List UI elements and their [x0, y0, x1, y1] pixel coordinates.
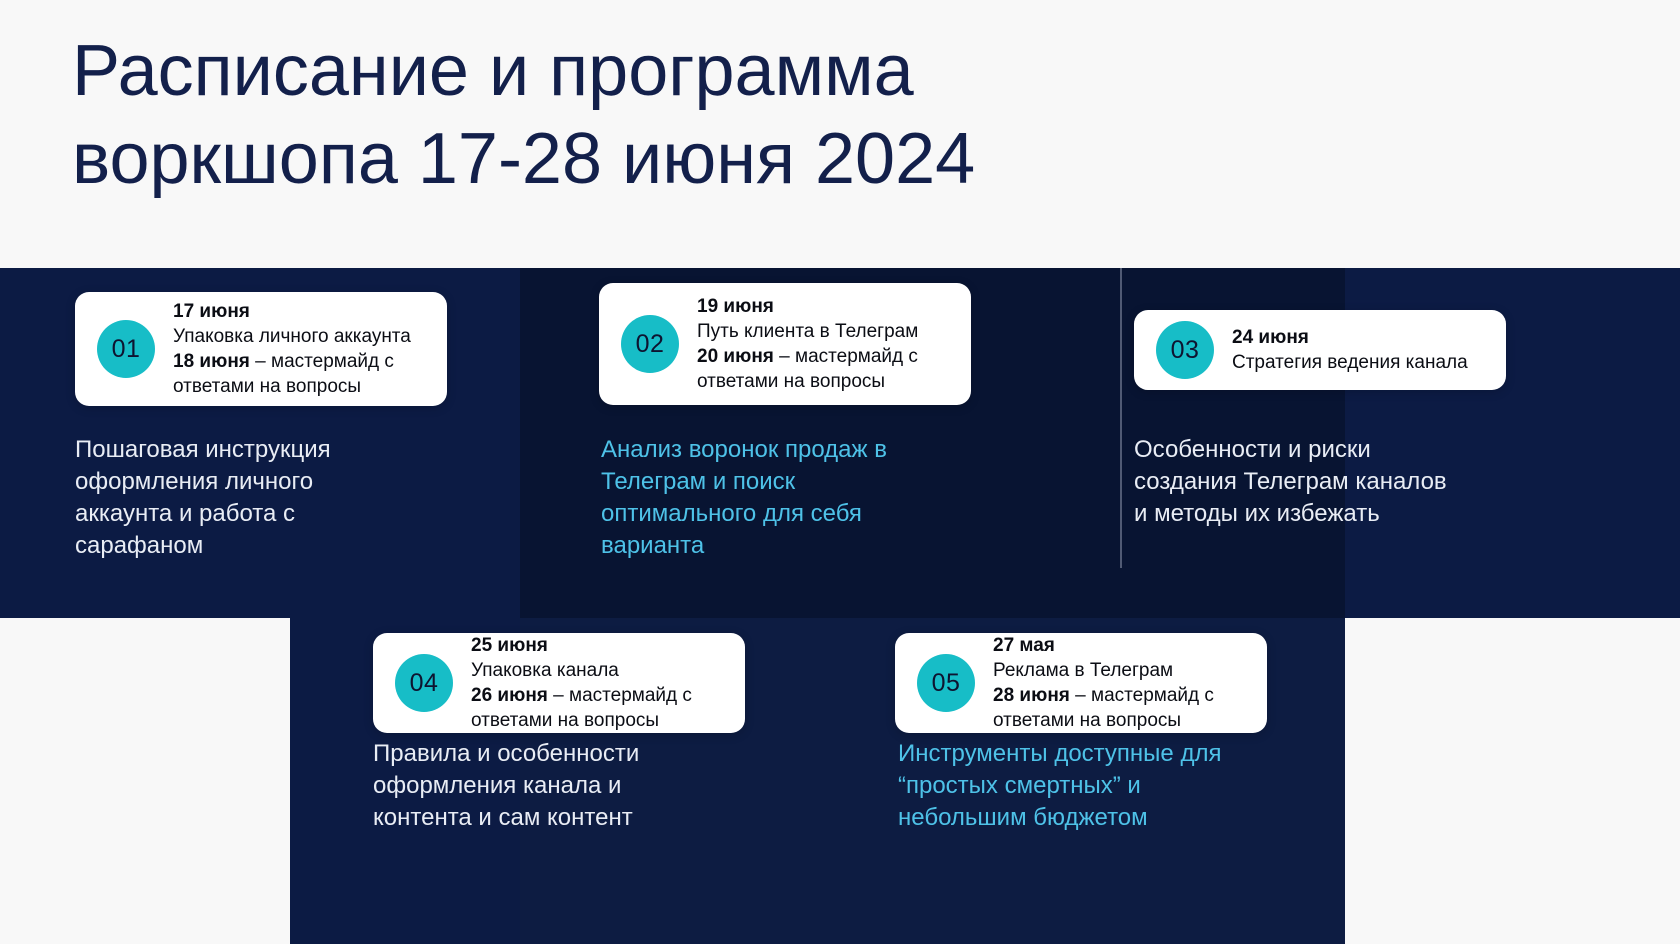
- background-white-bottom-left: [0, 618, 290, 944]
- card-description-05: Инструменты доступные для “простых смерт…: [898, 738, 1318, 834]
- card-description-02: Анализ воронок продаж в Телеграм и поиск…: [601, 434, 1001, 562]
- schedule-card-04[interactable]: 04 25 июняУпаковка канала26 июня – масте…: [373, 633, 745, 733]
- card-description-01: Пошаговая инструкция оформления личного …: [75, 434, 475, 562]
- card-number-badge-05: 05: [917, 654, 975, 712]
- card-number-badge-04: 04: [395, 654, 453, 712]
- card-date-secondary-01: 18 июня: [173, 351, 250, 372]
- card-date-primary-05: 27 мая: [993, 635, 1055, 656]
- card-text-03: 24 июняСтратегия ведения канала: [1232, 325, 1484, 375]
- column-divider-line: [1120, 268, 1122, 568]
- card-number-badge-01: 01: [97, 320, 155, 378]
- card-number-badge-03: 03: [1156, 321, 1214, 379]
- card-date-secondary-05: 28 июня: [993, 685, 1070, 706]
- background-white-bottom-right: [1345, 618, 1680, 944]
- card-topic-01: Упаковка личного аккаунта: [173, 326, 411, 347]
- card-date-primary-01: 17 июня: [173, 301, 250, 322]
- card-description-04: Правила и особенности оформления канала …: [373, 738, 773, 834]
- schedule-card-02[interactable]: 02 19 июняПуть клиента в Телеграм20 июня…: [599, 283, 971, 405]
- card-text-02: 19 июняПуть клиента в Телеграм20 июня – …: [697, 294, 934, 394]
- card-topic-03: Стратегия ведения канала: [1232, 352, 1468, 373]
- card-topic-02: Путь клиента в Телеграм: [697, 321, 918, 342]
- card-date-secondary-02: 20 июня: [697, 346, 774, 367]
- slide-canvas: Расписание и программа воркшопа 17-28 ию…: [0, 0, 1680, 944]
- card-topic-05: Реклама в Телеграм: [993, 660, 1173, 681]
- card-text-01: 17 июняУпаковка личного аккаунта18 июня …: [173, 299, 427, 399]
- card-number-badge-02: 02: [621, 315, 679, 373]
- schedule-card-03[interactable]: 03 24 июняСтратегия ведения канала: [1134, 310, 1506, 390]
- card-date-primary-02: 19 июня: [697, 296, 774, 317]
- card-text-04: 25 июняУпаковка канала26 июня – мастерма…: [471, 633, 708, 733]
- page-title: Расписание и программа воркшопа 17-28 ию…: [72, 28, 1422, 204]
- card-description-03: Особенности и риски создания Телеграм ка…: [1134, 434, 1534, 530]
- card-text-05: 27 маяРеклама в Телеграм28 июня – мастер…: [993, 633, 1230, 733]
- card-date-primary-04: 25 июня: [471, 635, 548, 656]
- schedule-card-05[interactable]: 05 27 маяРеклама в Телеграм28 июня – мас…: [895, 633, 1267, 733]
- card-topic-04: Упаковка канала: [471, 660, 619, 681]
- header-band: Расписание и программа воркшопа 17-28 ию…: [0, 0, 1680, 268]
- schedule-card-01[interactable]: 01 17 июняУпаковка личного аккаунта18 ию…: [75, 292, 447, 406]
- card-date-secondary-04: 26 июня: [471, 685, 548, 706]
- card-date-primary-03: 24 июня: [1232, 327, 1309, 348]
